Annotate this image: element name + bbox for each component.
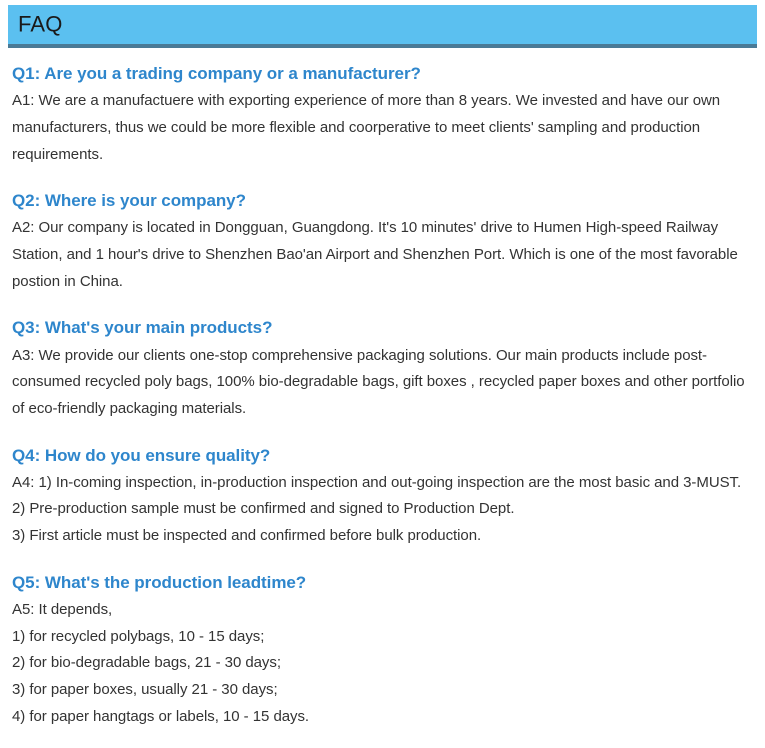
faq-question: Q3: What's your main products? (12, 316, 752, 340)
faq-answer: A4: 1) In-coming inspection, in-producti… (12, 470, 752, 550)
faq-answer-line: A4: 1) In-coming inspection, in-producti… (12, 470, 752, 497)
faq-item: Q1: Are you a trading company or a manuf… (12, 62, 752, 168)
faq-item: Q4: How do you ensure quality?A4: 1) In-… (12, 444, 752, 550)
faq-answer-line: 3) First article must be inspected and c… (12, 523, 752, 550)
faq-item: Q3: What's your main products?A3: We pro… (12, 316, 752, 422)
faq-question: Q5: What's the production leadtime? (12, 571, 752, 595)
page-title: FAQ (18, 13, 63, 35)
faq-answer-line: 2) for bio-degradable bags, 21 - 30 days… (12, 650, 752, 677)
faq-question: Q4: How do you ensure quality? (12, 444, 752, 468)
faq-answer-line: 2) Pre-production sample must be confirm… (12, 496, 752, 523)
faq-question: Q1: Are you a trading company or a manuf… (12, 62, 752, 86)
faq-answer-line: 4) for paper hangtags or labels, 10 - 15… (12, 704, 752, 731)
faq-item: Q2: Where is your company?A2: Our compan… (12, 189, 752, 295)
faq-answer-line: A1: We are a manufactuere with exporting… (12, 88, 752, 168)
faq-answer-line: 3) for paper boxes, usually 21 - 30 days… (12, 677, 752, 704)
faq-question: Q2: Where is your company? (12, 189, 752, 213)
faq-answer-line: A2: Our company is located in Dongguan, … (12, 215, 752, 295)
faq-page: FAQ Q1: Are you a trading company or a m… (0, 0, 765, 748)
faq-answer: A2: Our company is located in Dongguan, … (12, 215, 752, 295)
faq-header-banner: FAQ (8, 5, 757, 48)
faq-answer: A3: We provide our clients one-stop comp… (12, 343, 752, 423)
faq-answer: A1: We are a manufactuere with exporting… (12, 88, 752, 168)
faq-answer: A5: It depends,1) for recycled polybags,… (12, 597, 752, 730)
faq-answer-line: A5: It depends, (12, 597, 752, 624)
faq-answer-line: A3: We provide our clients one-stop comp… (12, 343, 752, 423)
faq-list: Q1: Are you a trading company or a manuf… (12, 62, 752, 730)
faq-item: Q5: What's the production leadtime?A5: I… (12, 571, 752, 731)
faq-answer-line: 1) for recycled polybags, 10 - 15 days; (12, 624, 752, 651)
